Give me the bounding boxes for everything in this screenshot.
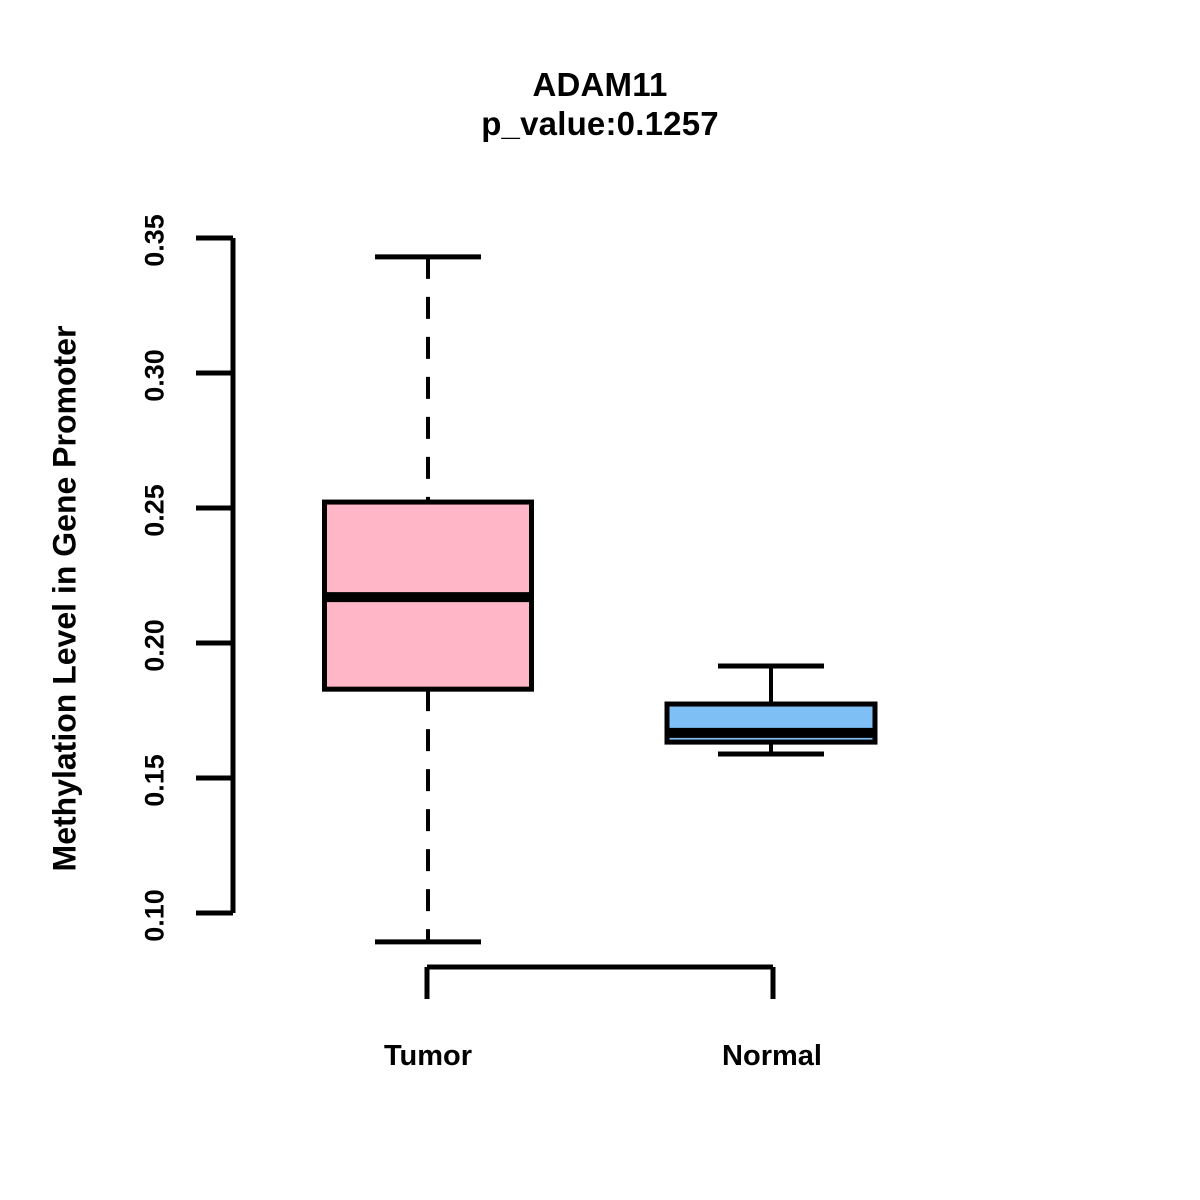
- box-group-normal[interactable]: [667, 666, 875, 754]
- boxplot-figure: ADAM11 p_value:0.1257 Methylation Level …: [0, 0, 1200, 1200]
- x-axis: [427, 967, 773, 999]
- box-group-tumor[interactable]: [325, 257, 532, 942]
- plot-canvas: [0, 0, 1200, 1200]
- y-axis: [196, 238, 233, 913]
